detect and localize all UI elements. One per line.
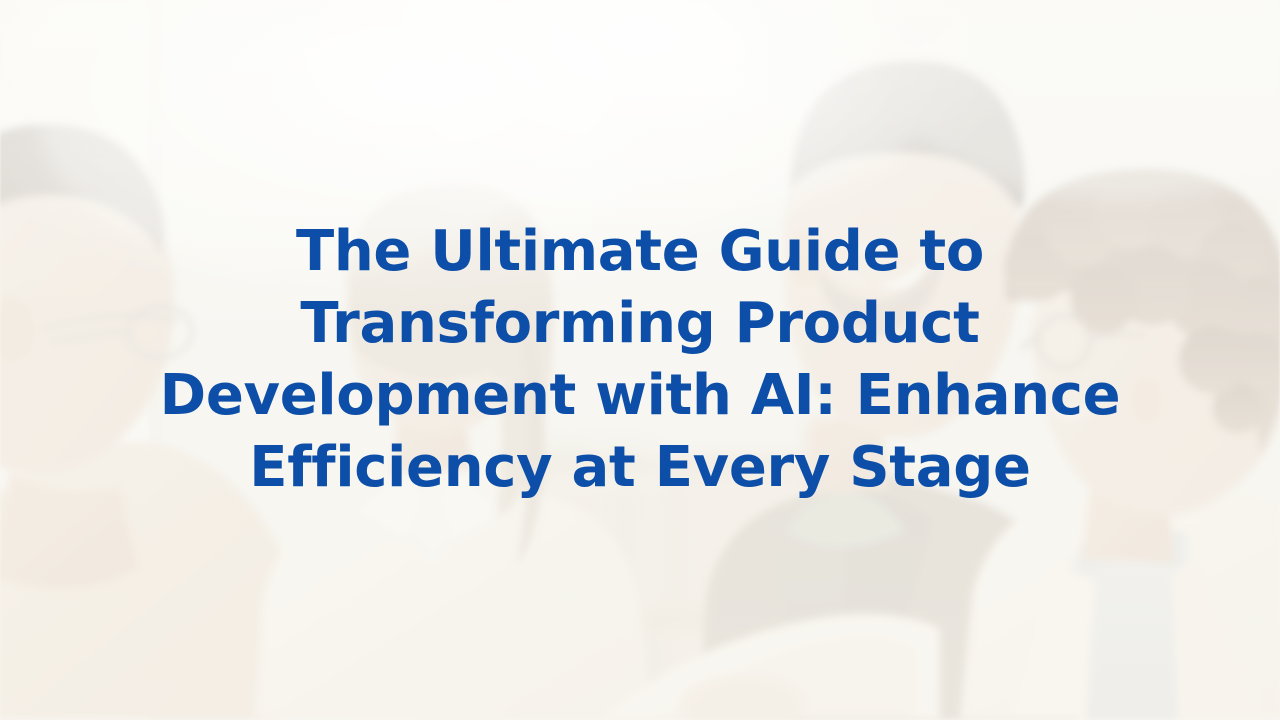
hero-banner: The Ultimate Guide to Transforming Produ… (0, 0, 1280, 720)
background-photo (0, 0, 1280, 720)
